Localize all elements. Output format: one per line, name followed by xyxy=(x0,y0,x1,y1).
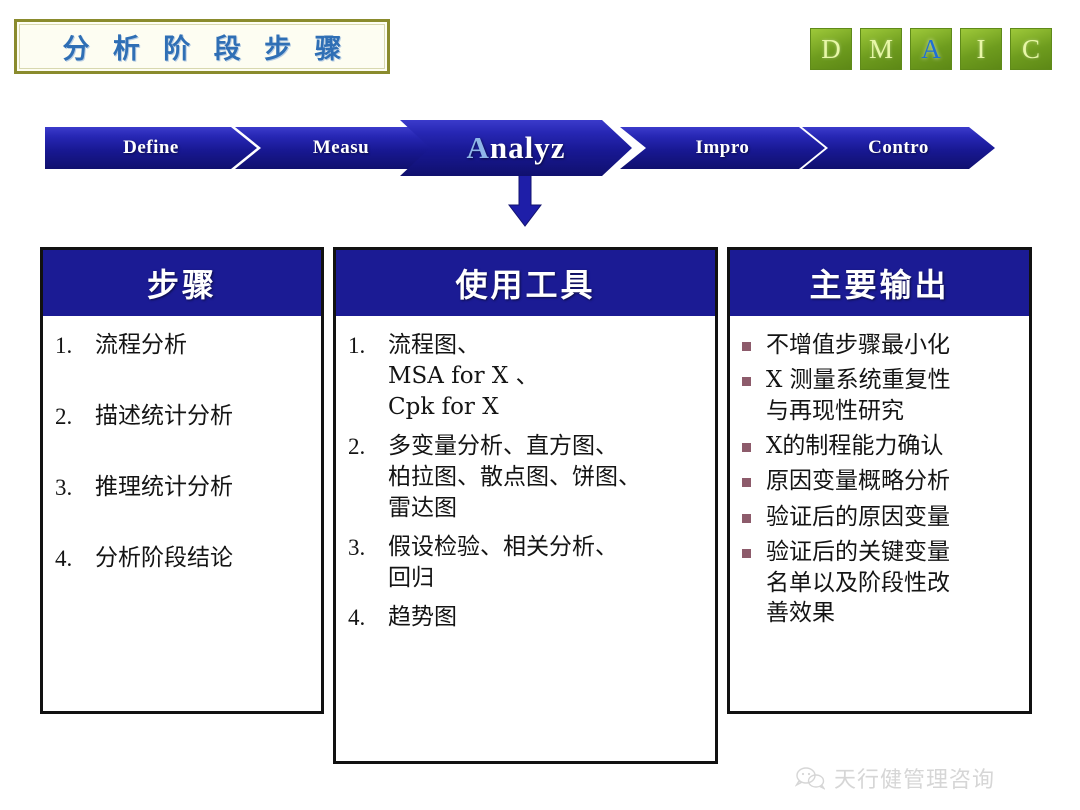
phase-chevron-define[interactable]: Define xyxy=(45,127,257,169)
dmaic-letter-c[interactable]: C xyxy=(1010,28,1052,70)
list-item-label: 分析阶段结论 xyxy=(95,543,311,574)
list-item: 3. 假设检验、相关分析、 回归 xyxy=(348,532,705,594)
list-item-label: 趋势图 xyxy=(388,602,705,633)
phase-chevron-improve[interactable]: Impro xyxy=(620,127,825,169)
square-bullet-icon xyxy=(742,537,766,628)
page-title-box: 分 析 阶 段 步 骤 xyxy=(14,19,390,74)
list-item: 验证后的关键变量 名单以及阶段性改 善效果 xyxy=(742,537,1019,628)
phase-chevron-control[interactable]: Contro xyxy=(802,127,995,169)
list-item-label: 不增值步骤最小化 xyxy=(766,330,1019,360)
column-tools-body: 1. 流程图、 MSA for X 、 Cpk for X 2. 多变量分析、直… xyxy=(336,316,715,649)
list-item: 1. 流程图、 MSA for X 、 Cpk for X xyxy=(348,330,705,423)
list-item: 1. 流程分析 xyxy=(55,330,311,361)
list-item: 原因变量概略分析 xyxy=(742,466,1019,496)
column-steps-body: 1. 流程分析 2. 描述统计分析 3. 推理统计分析 4. 分析阶段结论 xyxy=(43,316,321,582)
column-output: 主要输出 不增值步骤最小化 X 测量系统重复性 与再现性研究 X的制程能力确认 … xyxy=(727,247,1032,714)
list-item-label: 验证后的原因变量 xyxy=(766,502,1019,532)
list-item: 验证后的原因变量 xyxy=(742,502,1019,532)
list-item-number: 4. xyxy=(55,543,95,574)
list-item: 4. 趋势图 xyxy=(348,602,705,633)
list-item-number: 1. xyxy=(348,330,388,423)
list-item-label: 原因变量概略分析 xyxy=(766,466,1019,496)
dmaic-process-banner: Define Measu Analyz Impro Contro xyxy=(45,120,995,175)
column-output-header: 主要输出 xyxy=(730,250,1029,316)
column-tools: 使用工具 1. 流程图、 MSA for X 、 Cpk for X 2. 多变… xyxy=(333,247,718,764)
dmaic-letter-a[interactable]: A xyxy=(910,28,952,70)
phase-analyze-initial: A xyxy=(466,130,489,166)
dmaic-letter-i[interactable]: I xyxy=(960,28,1002,70)
list-item-label: X的制程能力确认 xyxy=(766,431,1019,461)
list-item: X 测量系统重复性 与再现性研究 xyxy=(742,365,1019,426)
down-arrow-icon xyxy=(508,175,542,227)
list-item-label: 流程分析 xyxy=(95,330,311,361)
watermark-label: 天行健管理咨询 xyxy=(834,762,995,794)
dmaic-indicator: D M A I C xyxy=(810,28,1052,70)
watermark: 天行健管理咨询 xyxy=(795,762,995,794)
list-item-number: 2. xyxy=(348,431,388,524)
square-bullet-icon xyxy=(742,365,766,426)
list-item-label: 多变量分析、直方图、 柏拉图、散点图、饼图、 雷达图 xyxy=(388,431,705,524)
column-tools-header: 使用工具 xyxy=(336,250,715,316)
list-item-label: 流程图、 MSA for X 、 Cpk for X xyxy=(388,330,705,423)
dmaic-letter-m[interactable]: M xyxy=(860,28,902,70)
phase-chevron-analyze[interactable]: Analyz xyxy=(400,120,632,176)
list-item-number: 2. xyxy=(55,401,95,432)
square-bullet-icon xyxy=(742,502,766,532)
list-item-label: 描述统计分析 xyxy=(95,401,311,432)
list-item: 3. 推理统计分析 xyxy=(55,472,311,503)
page-title: 分 析 阶 段 步 骤 xyxy=(56,27,349,66)
list-item-label: 假设检验、相关分析、 回归 xyxy=(388,532,705,594)
square-bullet-icon xyxy=(742,431,766,461)
square-bullet-icon xyxy=(742,466,766,496)
column-steps-header: 步骤 xyxy=(43,250,321,316)
list-item-number: 3. xyxy=(55,472,95,503)
list-item-number: 3. xyxy=(348,532,388,594)
column-output-body: 不增值步骤最小化 X 测量系统重复性 与再现性研究 X的制程能力确认 原因变量概… xyxy=(730,316,1029,641)
phase-analyze-rest: nalyz xyxy=(490,130,566,166)
list-item: X的制程能力确认 xyxy=(742,431,1019,461)
list-item-number: 4. xyxy=(348,602,388,633)
square-bullet-icon xyxy=(742,330,766,360)
list-item-label: X 测量系统重复性 与再现性研究 xyxy=(766,365,1019,426)
list-item: 不增值步骤最小化 xyxy=(742,330,1019,360)
list-item-label: 推理统计分析 xyxy=(95,472,311,503)
list-item: 2. 描述统计分析 xyxy=(55,401,311,432)
list-item: 2. 多变量分析、直方图、 柏拉图、散点图、饼图、 雷达图 xyxy=(348,431,705,524)
column-steps: 步骤 1. 流程分析 2. 描述统计分析 3. 推理统计分析 4. 分析阶段结论 xyxy=(40,247,324,714)
list-item: 4. 分析阶段结论 xyxy=(55,543,311,574)
wechat-icon xyxy=(795,766,825,790)
list-item-number: 1. xyxy=(55,330,95,361)
dmaic-letter-d[interactable]: D xyxy=(810,28,852,70)
list-item-label: 验证后的关键变量 名单以及阶段性改 善效果 xyxy=(766,537,1019,628)
